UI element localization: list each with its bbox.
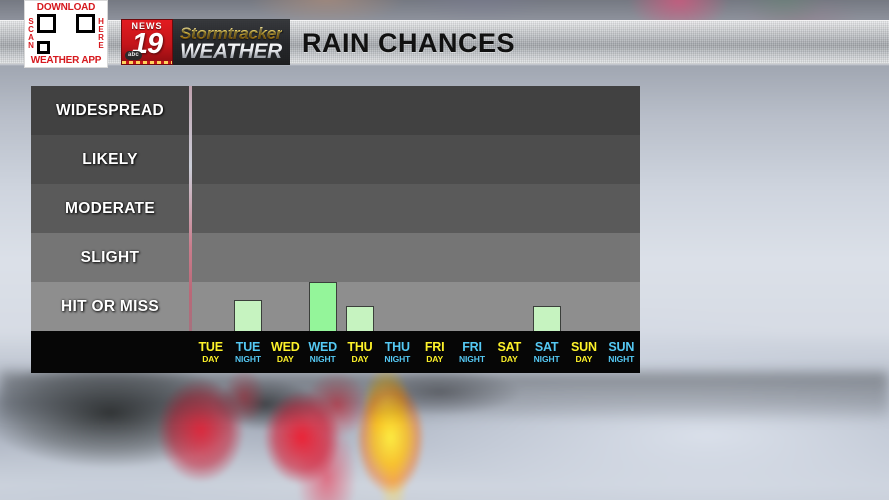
category-label-widespread: WIDESPREAD [31, 86, 189, 135]
axis-day-part: NIGHT [459, 355, 485, 364]
axis-label-thu-day: THUDAY [341, 331, 378, 373]
background-dark-band [0, 372, 889, 418]
axis-label-wed-day: WEDDAY [267, 331, 304, 373]
category-label-hit-or-miss: HIT OR MISS [31, 282, 189, 331]
bar-slot-thu-day [341, 86, 378, 331]
axis-day-part: NIGHT [384, 355, 410, 364]
axis-day-name: TUE [236, 341, 260, 354]
axis-day-part: NIGHT [608, 355, 634, 364]
category-label-column: WIDESPREADLIKELYMODERATESLIGHTHIT OR MIS… [31, 86, 189, 331]
stormtracker-wordmark: Stormtracker WEATHER [173, 19, 290, 65]
axis-day-part: DAY [352, 355, 369, 364]
bar-slot-thu-night [379, 86, 416, 331]
axis-label-sun-night: SUNNIGHT [603, 331, 640, 373]
qr-bottom-label: WEATHER APP [25, 54, 107, 67]
axis-day-name: FRI [462, 341, 482, 354]
qr-code-promo[interactable]: DOWNLOAD SCAN HERE WEATHER APP [24, 0, 108, 68]
brand-stripe [122, 61, 172, 64]
qr-code-icon[interactable] [37, 14, 95, 54]
axis-day-part: NIGHT [310, 355, 336, 364]
axis-day-name: FRI [425, 341, 445, 354]
axis-day-part: DAY [202, 355, 219, 364]
bar-thu-day [346, 306, 374, 331]
axis-label-sat-day: SATDAY [491, 331, 528, 373]
bar-series-layer [192, 86, 640, 331]
axis-day-part: DAY [576, 355, 593, 364]
axis-label-tue-day: TUEDAY [192, 331, 229, 373]
axis-day-name: SUN [571, 341, 597, 354]
axis-day-name: THU [347, 341, 372, 354]
bar-slot-sun-night [603, 86, 640, 331]
category-label-likely: LIKELY [31, 135, 189, 184]
axis-day-name: TUE [198, 341, 222, 354]
stormtracker-line2: WEATHER [180, 41, 282, 62]
category-label-slight: SLIGHT [31, 233, 189, 282]
page-title: RAIN CHANCES [302, 28, 515, 58]
axis-day-name: WED [308, 341, 337, 354]
axis-label-thu-night: THUNIGHT [379, 331, 416, 373]
qr-top-label: DOWNLOAD [25, 1, 107, 14]
abc-network-icon: abc [125, 51, 142, 60]
axis-label-fri-day: FRIDAY [416, 331, 453, 373]
bar-slot-wed-day [267, 86, 304, 331]
qr-right-label: HERE [95, 14, 107, 54]
broadcast-graphic-stage: RAIN CHANCES NEWS 19 abc Stormtracker WE… [0, 0, 889, 500]
axis-day-name: SUN [608, 341, 634, 354]
axis-day-part: DAY [426, 355, 443, 364]
axis-label-fri-night: FRINIGHT [453, 331, 490, 373]
bar-slot-sat-night [528, 86, 565, 331]
news19-badge: NEWS 19 abc [121, 19, 173, 65]
bar-tue-night [234, 300, 262, 331]
bar-wed-night [309, 282, 337, 331]
bar-slot-tue-night [229, 86, 266, 331]
axis-day-name: SAT [535, 341, 558, 354]
axis-day-name: THU [385, 341, 410, 354]
axis-label-sat-night: SATNIGHT [528, 331, 565, 373]
category-label-moderate: MODERATE [31, 184, 189, 233]
bar-slot-sun-day [565, 86, 602, 331]
axis-day-part: NIGHT [235, 355, 261, 364]
bar-slot-fri-day [416, 86, 453, 331]
bar-slot-sat-day [491, 86, 528, 331]
axis-day-part: NIGHT [534, 355, 560, 364]
axis-label-sun-day: SUNDAY [565, 331, 602, 373]
axis-label-wed-night: WEDNIGHT [304, 331, 341, 373]
station-brand-logo: NEWS 19 abc Stormtracker WEATHER [121, 19, 290, 65]
bar-slot-wed-night [304, 86, 341, 331]
axis-day-name: SAT [498, 341, 521, 354]
bar-slot-fri-night [453, 86, 490, 331]
axis-day-part: DAY [277, 355, 294, 364]
rain-chances-chart: WIDESPREADLIKELYMODERATESLIGHTHIT OR MIS… [31, 86, 640, 373]
axis-day-part: DAY [501, 355, 518, 364]
bar-slot-tue-day [192, 86, 229, 331]
qr-left-label: SCAN [25, 14, 37, 54]
bar-sat-night [533, 306, 561, 331]
axis-day-name: WED [271, 341, 300, 354]
day-axis-labels: TUEDAYTUENIGHTWEDDAYWEDNIGHTTHUDAYTHUNIG… [192, 331, 640, 373]
axis-label-tue-night: TUENIGHT [229, 331, 266, 373]
